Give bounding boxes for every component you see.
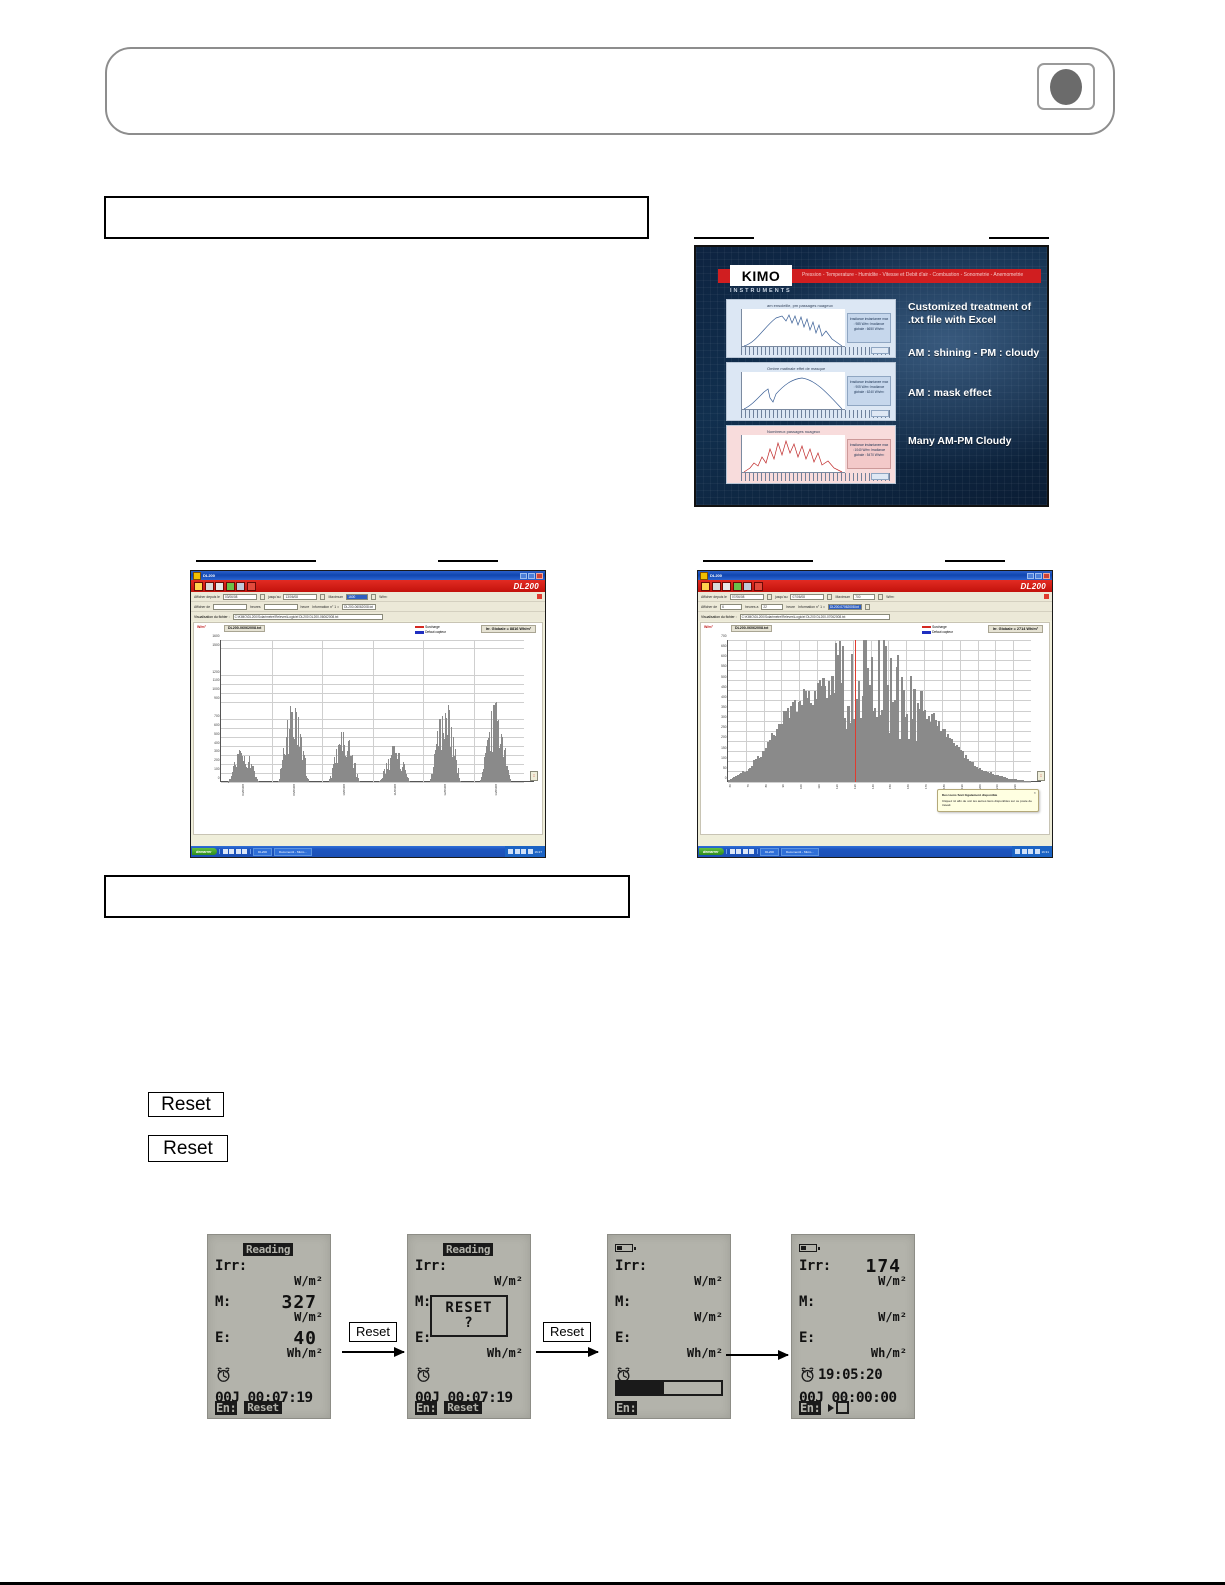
info-input[interactable]: DL200-07062008.txt — [828, 604, 862, 610]
kimo-mini-chart-title-3: Nombreux passages nuageux — [767, 429, 820, 434]
y-axis-tick: 650 — [721, 644, 726, 648]
folder-icon[interactable] — [236, 849, 241, 854]
lcd-screen-resetting: Irr: W/m² M: W/m² E: Wh/m² En: — [607, 1234, 731, 1419]
legend-label-defaut: Defaut capteur — [932, 630, 953, 634]
y-axis-tick: 150 — [721, 746, 726, 750]
close-icon[interactable]: ✕ — [1033, 791, 1036, 796]
date-from-spinner[interactable] — [767, 594, 772, 600]
dl200-window-left[interactable]: DL200 DL200 Afficher depuis le 03/06/08 … — [190, 570, 546, 858]
flow-step-3 — [714, 1345, 800, 1356]
file-path-value[interactable]: C:\KIMO\DL200\Solarimetre\Releves\Logici… — [233, 614, 383, 620]
flow-step-1: Reset — [330, 1322, 416, 1353]
lcd-status-bar: Reading — [415, 1243, 523, 1258]
x-axis-tick: 12/06/08 — [443, 784, 447, 796]
close-icon[interactable] — [536, 573, 543, 579]
lcd-unit-energy: Wh/m² — [871, 1346, 907, 1360]
lcd-label-energy: E: — [415, 1330, 431, 1346]
page-header-banner — [105, 47, 1115, 135]
y-axis-tick: 300 — [214, 749, 219, 753]
x-axis-tick: 10/06/08 — [342, 784, 346, 796]
crop-mark-right — [989, 237, 1049, 239]
alarm-clock-icon — [215, 1366, 232, 1383]
date-range-row[interactable]: Afficher depuis le 07/06/08 jusqu'au 07/… — [698, 592, 1052, 602]
window-controls[interactable] — [520, 573, 543, 579]
windows-notification-balloon[interactable]: ✕ Des Liens Sont Egalement disponible Cl… — [937, 789, 1039, 812]
kimo-mini-button-1[interactable] — [871, 347, 889, 354]
gridline-vertical — [746, 640, 747, 782]
start-button[interactable]: demarrer — [699, 848, 724, 855]
chart-bar — [510, 781, 511, 782]
arrow-right-icon — [726, 1354, 788, 1356]
date-range-row[interactable]: Afficher depuis le 03/06/08 jusqu'au 13/… — [191, 592, 545, 602]
lcd-label-irr: Irr: — [799, 1258, 831, 1274]
taskbar-item-word[interactable]: Document1 - Micro... — [274, 848, 312, 856]
tray-icon-4[interactable] — [528, 849, 533, 854]
kimo-mini-curve-2 — [742, 372, 846, 410]
export-excel-icon[interactable] — [226, 582, 235, 591]
legend-swatch-blue — [922, 631, 931, 634]
taskbar-clock: 16:27 — [534, 850, 542, 854]
windows-taskbar[interactable]: demarrer DL200 Document1 - Micro... 16:2… — [191, 846, 545, 857]
date-to-spinner[interactable] — [320, 594, 325, 600]
legend-item-defaut: Defaut capteur — [415, 630, 446, 635]
hour-from-input[interactable] — [213, 604, 247, 610]
chart-plot-area-right: 7006506005505004504003503002502001501005… — [727, 640, 1031, 782]
lcd-label-max: M: — [799, 1294, 815, 1310]
kimo-logo-text: KIMO — [742, 268, 781, 284]
chart-total-annotation: Irr. Globale = 2714 Wh/m² — [988, 625, 1043, 633]
y-axis-tick: 600 — [721, 654, 726, 658]
lcd-label-irr: Irr: — [615, 1258, 647, 1274]
crop-mark-right — [945, 560, 1005, 562]
label-to: jusqu'au — [268, 595, 281, 599]
y-axis-tick: 1100 — [213, 678, 220, 682]
chart-bar — [409, 781, 410, 782]
label-unit: W/m² — [379, 595, 387, 599]
chart-cursor-line[interactable] — [855, 640, 856, 782]
lcd-unit-irr: W/m² — [878, 1274, 907, 1288]
y-axis-tick: 200 — [721, 735, 726, 739]
open-file-icon[interactable] — [194, 582, 203, 591]
lcd-softkey-bar[interactable]: En: Reset — [415, 1400, 523, 1415]
y-axis-tick: 50 — [723, 766, 727, 770]
label-info: Information n° 1 = — [798, 605, 825, 609]
path-label: Visualisation du fichier : — [701, 615, 737, 619]
lcd-softkey-bar[interactable]: En: — [615, 1400, 723, 1415]
date-to-input[interactable]: 13/06/08 — [283, 594, 317, 600]
label-max: Maximum — [835, 595, 850, 599]
x-axis-tick: 11h — [817, 784, 821, 789]
lcd-label-max: M: — [215, 1294, 231, 1310]
gridline-vertical — [373, 640, 374, 782]
gridline-vertical — [1013, 640, 1014, 782]
x-axis-tick: 10h — [799, 784, 803, 789]
lcd-reset-confirm-dialog[interactable]: RESET ? — [430, 1295, 508, 1337]
kimo-mini-axis-3 — [741, 473, 891, 481]
file-path-row: Visualisation du fichier : C:\KIMO\DL200… — [698, 612, 1052, 621]
hour-filter-row[interactable]: Afficher de 6 heures a 22 heure Informat… — [698, 602, 1052, 612]
window-title: DL200 — [710, 573, 722, 578]
section-heading-box-1 — [104, 196, 649, 239]
dl200-window-right[interactable]: DL200 DL200 Afficher depuis le 07/06/08 … — [697, 570, 1053, 858]
lcd-row-irr: Irr: W/m² — [415, 1258, 523, 1294]
kimo-mini-plot-2 — [741, 372, 845, 410]
quick-launch-bar[interactable] — [219, 849, 252, 854]
play-triangle-icon — [828, 1404, 834, 1412]
kimo-logo: KIMO — [730, 265, 792, 286]
kimo-mini-button-3[interactable] — [871, 473, 889, 480]
label-filter: Afficher de — [194, 605, 210, 609]
lcd-softkey-reset[interactable]: Reset — [444, 1401, 482, 1414]
window-title: DL200 — [203, 573, 215, 578]
record-square-icon — [836, 1401, 849, 1414]
battery-level-bar — [617, 1246, 622, 1250]
reset-button-1[interactable]: Reset — [148, 1092, 224, 1117]
lcd-progress-fill — [617, 1382, 664, 1394]
mail-icon[interactable] — [242, 849, 247, 854]
kimo-caption-3: AM : mask effect — [908, 387, 1048, 400]
mail-icon[interactable] — [749, 849, 754, 854]
label-to: jusqu'au — [775, 595, 788, 599]
status-indicator — [537, 594, 542, 599]
record-button-icon[interactable] — [828, 1401, 849, 1414]
reset-button-2[interactable]: Reset — [148, 1135, 228, 1162]
taskbar-item-word[interactable]: Document1 - Micro... — [781, 848, 819, 856]
print-icon[interactable] — [722, 582, 731, 591]
max-value-input[interactable]: 700 — [853, 594, 875, 600]
y-axis-tick: 1600 — [212, 634, 219, 638]
y-axis-tick: 0 — [725, 776, 727, 780]
chart-view-icon[interactable] — [754, 582, 763, 591]
ie-icon[interactable] — [730, 849, 735, 854]
chart-canvas-right[interactable]: W/m² DL200-06062008.txt Surcharge Defaut… — [700, 622, 1050, 835]
chart-canvas-left[interactable]: W/m² DL200-06062008.txt Surcharge Defaut… — [193, 622, 543, 835]
kimo-mini-axis-1 — [741, 347, 891, 355]
vertical-scale-icon[interactable]: ↕ — [530, 771, 538, 781]
folder-icon[interactable] — [743, 849, 748, 854]
y-axis-tick: 100 — [214, 767, 219, 771]
app-toolbar[interactable]: DL200 — [698, 580, 1052, 592]
app-icon — [193, 572, 201, 580]
table-view-icon[interactable] — [236, 582, 245, 591]
arrow-right-icon — [536, 1351, 598, 1353]
kimo-mini-plot-1 — [741, 309, 845, 347]
kimo-mini-note-3: Irradiance instantanee max : 1040 W/m² I… — [847, 439, 891, 469]
flow-label-reset-1[interactable]: Reset — [349, 1322, 397, 1342]
chart-bar — [308, 780, 309, 782]
x-axis-tick: 15h — [888, 784, 892, 789]
lcd-unit-irr: W/m² — [694, 1274, 723, 1288]
taskbar-item-dl200[interactable]: DL200 — [760, 848, 779, 856]
balloon-body: Cliquez ici afin de voir les autres lien… — [942, 799, 1032, 808]
file-path-row: Visualisation du fichier : C:\KIMO\DL200… — [191, 612, 545, 621]
lcd-row-irr: Irr: W/m² — [615, 1258, 723, 1294]
lcd-softkey-reset[interactable]: Reset — [244, 1401, 282, 1414]
maximize-icon[interactable] — [1035, 573, 1042, 579]
y-axis-tick: 1000 — [212, 687, 219, 691]
lcd-row-max: M: W/m² — [615, 1294, 723, 1330]
kimo-mini-chart-2: Ombre matinale effet de masque Irradianc… — [726, 362, 896, 421]
window-titlebar: DL200 — [698, 571, 1052, 580]
date-from-input[interactable]: 03/06/08 — [223, 594, 257, 600]
oval-logo-icon — [1050, 69, 1082, 105]
gridline-vertical — [272, 640, 273, 782]
lcd-label-energy: E: — [799, 1330, 815, 1346]
lcd-row-energy: E: Wh/m² — [799, 1330, 907, 1366]
chart-total-annotation: Irr. Globale = 8816 Wh/m² — [481, 625, 536, 633]
hour-to-input[interactable]: 22 — [761, 604, 783, 610]
label-info: Information n° 1 = — [312, 605, 339, 609]
lcd-unit-irr: W/m² — [294, 1274, 323, 1288]
y-axis-tick: 1200 — [212, 670, 219, 674]
kimo-caption-2: AM : shining - PM : cloudy — [908, 347, 1049, 360]
lcd-softkey-en[interactable]: En: — [415, 1401, 437, 1415]
lcd-label-irr: Irr: — [215, 1258, 247, 1274]
y-axis-tick: 700 — [721, 634, 726, 638]
kimo-mini-curve-3 — [742, 435, 846, 473]
kimo-mini-chart-1: am ensoleille, pm passages nuageux Irrad… — [726, 299, 896, 358]
dl200-multiday-screenshot-figure: DL200 DL200 Afficher depuis le 03/06/08 … — [188, 560, 548, 860]
hour-filter-row[interactable]: Afficher de heures heure Information n° … — [191, 602, 545, 612]
print-icon[interactable] — [215, 582, 224, 591]
y-axis-tick: 500 — [214, 732, 219, 736]
minimize-icon[interactable] — [1027, 573, 1034, 579]
system-tray[interactable]: 16:27 — [505, 846, 545, 857]
y-axis-tick: 500 — [721, 675, 726, 679]
label-from: Afficher depuis le — [701, 595, 727, 599]
x-axis-tick: 14h — [871, 784, 875, 789]
x-axis-tick: 7h — [746, 784, 750, 787]
ie-icon[interactable] — [223, 849, 228, 854]
kimo-caption-1: Customized treatment of .txt file with E… — [908, 301, 1048, 327]
tray-icon-1[interactable] — [508, 849, 513, 854]
x-axis-tick: 13/06/08 — [494, 784, 498, 796]
dl200-singleday-screenshot-figure: DL200 DL200 Afficher depuis le 07/06/08 … — [695, 560, 1055, 860]
kimo-slide-canvas: Pression - Temperature - Humidite - Vite… — [694, 245, 1049, 507]
label-hour: heure — [786, 605, 795, 609]
app-brand-label: DL200 — [1020, 582, 1046, 591]
vertical-scale-icon[interactable]: ↕ — [1037, 771, 1045, 781]
lcd-clock-time: 19:05:20 — [818, 1367, 882, 1383]
alarm-clock-icon — [415, 1366, 432, 1383]
kimo-mini-chart-3: Nombreux passages nuageux Irradiance ins… — [726, 425, 896, 484]
gridline-vertical — [995, 640, 996, 782]
kimo-caption-4: Many AM-PM Cloudy — [908, 435, 1048, 448]
max-value-spinner[interactable] — [371, 594, 376, 600]
y-axis-tick: 400 — [214, 741, 219, 745]
window-titlebar: DL200 — [191, 571, 545, 580]
lcd-softkey-en[interactable]: En: — [615, 1401, 637, 1415]
info-spinner[interactable] — [865, 604, 870, 610]
taskbar-clock: 16:31 — [1041, 850, 1049, 854]
lcd-mode-badge: Reading — [443, 1243, 493, 1256]
y-axis-tick: 600 — [214, 723, 219, 727]
kimo-mini-plot-3 — [741, 435, 845, 473]
lcd-dialog-line1: RESET — [445, 1301, 492, 1316]
y-axis-tick: 300 — [721, 715, 726, 719]
kimo-mini-note-2: Irradiance instantanee max : 905 W/m² Ir… — [847, 376, 891, 406]
balloon-title: Des Liens Sont Egalement disponible — [942, 793, 1034, 798]
lcd-unit-max: W/m² — [694, 1310, 723, 1324]
lcd-dialog-line2: ? — [464, 1316, 473, 1331]
label-unit: W/m² — [886, 595, 894, 599]
y-axis-tick: 900 — [214, 696, 219, 700]
crop-mark-left — [196, 560, 316, 562]
save-icon[interactable] — [205, 582, 214, 591]
app-brand-label: DL200 — [513, 582, 539, 591]
y-axis-tick: 250 — [721, 725, 726, 729]
kimo-logo-subtitle: INSTRUMENTS — [730, 288, 792, 294]
lcd-row-energy: E: 40 Wh/m² — [215, 1330, 323, 1366]
kimo-presentation-slide-figure: Pression - Temperature - Humidite - Vite… — [694, 237, 1049, 507]
lcd-unit-irr: W/m² — [494, 1274, 523, 1288]
y-axis-tick: 200 — [214, 758, 219, 762]
date-from-spinner[interactable] — [260, 594, 265, 600]
x-axis-tick: 11/06/08 — [393, 784, 397, 795]
kimo-mini-chart-title-1: am ensoleille, pm passages nuageux — [767, 303, 833, 308]
lcd-screen-reset-confirm: Reading Irr: W/m² M: E: Wh/m² RESET ? 00… — [407, 1234, 531, 1419]
chart-y-unit-label: W/m² — [197, 625, 206, 629]
system-tray[interactable]: 16:31 — [1012, 846, 1052, 857]
label-filter: Afficher de — [701, 605, 717, 609]
lcd-softkey-en[interactable]: En: — [799, 1401, 821, 1415]
chart-plot-area-left: 1600150012001100100090070060050040030020… — [220, 640, 524, 782]
lcd-clock-row — [415, 1366, 523, 1390]
lcd-softkey-bar[interactable]: En: Reset — [215, 1400, 323, 1415]
flow-label-reset-2[interactable]: Reset — [543, 1322, 591, 1342]
export-excel-icon[interactable] — [733, 582, 742, 591]
battery-level-bar — [801, 1246, 806, 1250]
start-button[interactable]: demarrer — [192, 848, 217, 855]
y-axis-tick: 700 — [214, 714, 219, 718]
window-controls[interactable] — [1027, 573, 1050, 579]
lcd-progress-bar — [615, 1380, 723, 1396]
lcd-label-irr: Irr: — [415, 1258, 447, 1274]
kimo-mini-curve-1 — [742, 309, 846, 347]
maximize-icon[interactable] — [528, 573, 535, 579]
max-value-spinner[interactable] — [878, 594, 883, 600]
lcd-row-max: M: 327 W/m² — [215, 1294, 323, 1330]
lcd-row-irr: Irr: 174 W/m² — [799, 1258, 907, 1294]
alarm-clock-icon — [799, 1366, 816, 1383]
lcd-unit-max: W/m² — [294, 1310, 323, 1324]
legend-label-surcharge: Surcharge — [932, 625, 947, 629]
kimo-mini-axis-2 — [741, 410, 891, 418]
x-axis-tick: 17h — [924, 784, 928, 789]
crop-mark-left — [694, 237, 754, 239]
kimo-mini-note-1: Irradiance instantanee max : 985 W/m² Ir… — [847, 313, 891, 343]
lcd-label-energy: E: — [215, 1330, 231, 1346]
chart-file-chip: DL200-06062008.txt — [224, 625, 265, 632]
battery-icon — [799, 1244, 817, 1252]
lcd-mode-badge: Reading — [243, 1243, 293, 1256]
x-axis-tick: 6h — [728, 784, 732, 787]
tray-icon-2[interactable] — [1022, 849, 1027, 854]
media-icon[interactable] — [736, 849, 741, 854]
hour-to-input[interactable] — [264, 604, 298, 610]
lcd-status-bar: Reading — [215, 1243, 323, 1258]
date-to-input[interactable]: 07/06/08 — [790, 594, 824, 600]
section-heading-box-2 — [104, 875, 630, 918]
lcd-screen-reading: Reading Irr: W/m² M: 327 W/m² E: 40 Wh/m… — [207, 1234, 331, 1419]
hour-from-input[interactable]: 6 — [720, 604, 742, 610]
file-path-value[interactable]: C:\KIMO\DL200\Solarimetre\Releves\Logici… — [740, 614, 890, 620]
chart-view-icon[interactable] — [247, 582, 256, 591]
legend-label-surcharge: Surcharge — [425, 625, 440, 629]
info-input[interactable]: DL200-06062008.txt — [342, 604, 376, 610]
tray-icon-3[interactable] — [521, 849, 526, 854]
lcd-label-max: M: — [615, 1294, 631, 1310]
windows-taskbar[interactable]: demarrer DL200 Document1 - Micro... 16:3… — [698, 846, 1052, 857]
gridline-vertical — [474, 640, 475, 782]
lcd-unit-max: W/m² — [878, 1310, 907, 1324]
chart-bar — [359, 781, 360, 782]
gridline-vertical — [423, 640, 424, 782]
y-axis-tick: 550 — [721, 664, 726, 668]
quick-launch-bar[interactable] — [726, 849, 759, 854]
lcd-softkey-bar[interactable]: En: — [799, 1400, 907, 1415]
lcd-screen-restarted: Irr: 174 W/m² M: W/m² E: Wh/m² 19:05:20 … — [791, 1234, 915, 1419]
tray-icon-1[interactable] — [1015, 849, 1020, 854]
lcd-row-max: M: W/m² — [799, 1294, 907, 1330]
y-axis-tick: 100 — [721, 756, 726, 760]
status-indicator — [1044, 594, 1049, 599]
gridline-vertical — [978, 640, 979, 782]
chart-file-chip: DL200-06062008.txt — [731, 625, 772, 632]
save-icon[interactable] — [712, 582, 721, 591]
header-logo-box — [1037, 63, 1095, 110]
kimo-mini-button-2[interactable] — [871, 410, 889, 417]
y-axis-tick: 450 — [721, 685, 726, 689]
kimo-mini-chart-title-2: Ombre matinale effet de masque — [767, 366, 825, 371]
chart-bar — [258, 781, 259, 782]
taskbar-item-dl200[interactable]: DL200 — [253, 848, 272, 856]
lcd-clock-row: 19:05:20 — [799, 1366, 907, 1390]
app-toolbar[interactable]: DL200 — [191, 580, 545, 592]
legend-swatch-red — [415, 626, 424, 629]
open-file-icon[interactable] — [701, 582, 710, 591]
close-icon[interactable] — [1043, 573, 1050, 579]
tray-icon-4[interactable] — [1035, 849, 1040, 854]
lcd-unit-energy: Wh/m² — [287, 1346, 323, 1360]
y-axis-tick: 1500 — [212, 643, 219, 647]
date-from-input[interactable]: 07/06/08 — [730, 594, 764, 600]
y-axis-tick: 400 — [721, 695, 726, 699]
lcd-row-irr: Irr: W/m² — [215, 1258, 323, 1294]
media-icon[interactable] — [229, 849, 234, 854]
lcd-unit-energy: Wh/m² — [487, 1346, 523, 1360]
date-to-spinner[interactable] — [827, 594, 832, 600]
lcd-label-energy: E: — [615, 1330, 631, 1346]
max-value-input[interactable]: 1600 — [346, 594, 368, 600]
x-axis-tick: 13h — [853, 784, 857, 789]
lcd-softkey-en[interactable]: En: — [215, 1401, 237, 1415]
flow-step-2: Reset — [524, 1322, 610, 1353]
lcd-status-bar — [615, 1243, 723, 1258]
gridline-vertical — [322, 640, 323, 782]
chart-legend: Surcharge Defaut capteur — [415, 625, 446, 635]
table-view-icon[interactable] — [743, 582, 752, 591]
crop-mark-left — [703, 560, 813, 562]
tray-icon-3[interactable] — [1028, 849, 1033, 854]
lcd-label-max: M: — [415, 1294, 431, 1310]
x-axis-tick: 12h — [835, 784, 839, 789]
app-icon — [700, 572, 708, 580]
minimize-icon[interactable] — [520, 573, 527, 579]
y-axis-tick: 350 — [721, 705, 726, 709]
arrow-right-icon — [342, 1351, 404, 1353]
tray-icon-2[interactable] — [515, 849, 520, 854]
